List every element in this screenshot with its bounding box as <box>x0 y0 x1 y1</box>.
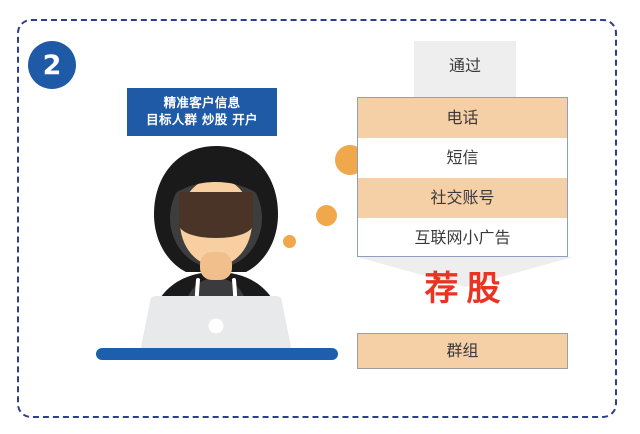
table-row: 短信 <box>358 138 567 178</box>
infographic-canvas: 2 精准客户信息 目标人群 炒股 开户 <box>0 0 640 434</box>
channel-label-internet-ads: 互联网小广告 <box>414 230 510 246</box>
target-customer-caption-box: 精准客户信息 目标人群 炒股 开户 <box>127 88 277 136</box>
step-number-badge: 2 <box>28 41 76 89</box>
hooded-hacker-illustration <box>86 140 346 360</box>
caption-line-1: 精准客户信息 <box>164 96 241 111</box>
channel-label-social-account: 社交账号 <box>430 190 494 206</box>
through-label: 通过 <box>414 58 516 74</box>
stock-recommendation-headline: 荐股 <box>357 272 568 306</box>
group-box: 群组 <box>357 333 568 369</box>
contact-channel-table: 电话 短信 社交账号 互联网小广告 <box>357 97 568 257</box>
group-box-label: 群组 <box>446 343 478 359</box>
channel-label-phone: 电话 <box>446 110 478 126</box>
orange-dot-medium <box>316 205 337 226</box>
orange-dot-small <box>283 235 296 248</box>
table-row: 互联网小广告 <box>358 218 567 257</box>
channel-label-sms: 短信 <box>446 150 478 166</box>
step-number-label: 2 <box>43 52 62 79</box>
table-row: 社交账号 <box>358 178 567 218</box>
table-row: 电话 <box>358 98 567 138</box>
caption-line-2: 目标人群 炒股 开户 <box>146 113 258 128</box>
